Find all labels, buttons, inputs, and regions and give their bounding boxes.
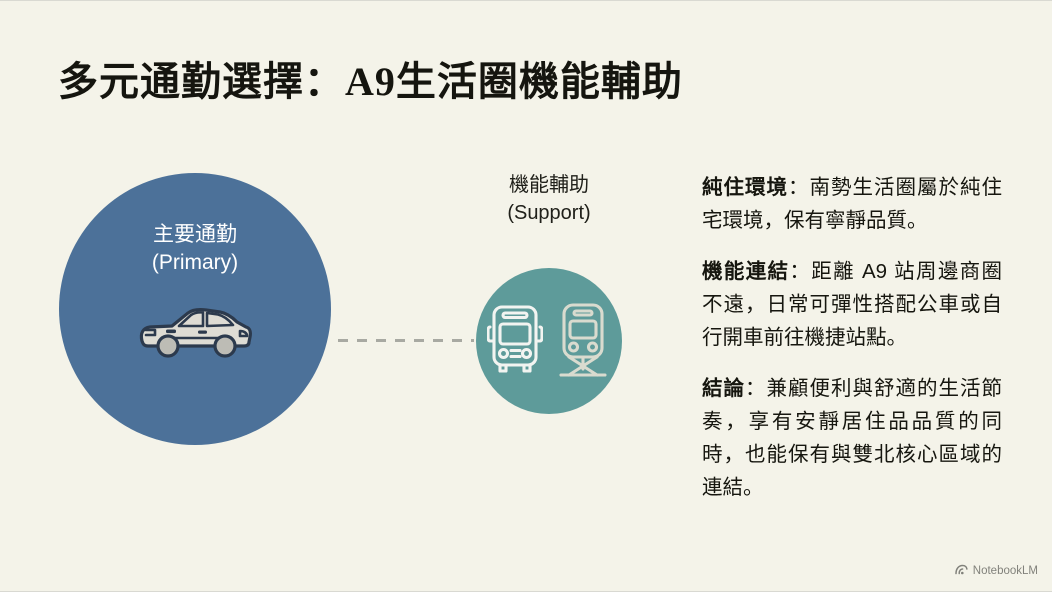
notebooklm-logo-icon [955, 563, 968, 579]
note-separator: ： [745, 377, 767, 400]
notebooklm-watermark: NotebookLM [955, 563, 1038, 579]
support-label-en: (Support) [458, 199, 640, 227]
note-label: 純住環境 [702, 176, 788, 199]
note-separator: ： [788, 176, 810, 199]
note-label: 機能連結 [702, 260, 789, 283]
support-label-zh: 機能輔助 [458, 171, 640, 199]
note-item: 結論：兼顧便利與舒適的生活節奏，享有安靜居住品品質的同時，也能保有與雙北核心區域… [702, 372, 1002, 504]
slide-canvas: 多元通勤選擇：A9生活圈機能輔助 主要通勤 (Primary) [0, 0, 1052, 592]
page-title: 多元通勤選擇：A9生活圈機能輔助 [58, 49, 683, 107]
note-item: 機能連結：距離 A9 站周邊商圈不遠，日常可彈性搭配公車或自行開車前往機捷站點。 [702, 255, 1002, 354]
dashed-connector [338, 339, 474, 342]
notes-column: 純住環境：南勢生活圈屬於純住宅環境，保有寧靜品質。 機能連結：距離 A9 站周邊… [702, 171, 1002, 504]
transit-icon-group [487, 301, 611, 383]
bus-icon [487, 303, 543, 382]
car-icon [136, 301, 254, 361]
support-function-label: 機能輔助 (Support) [458, 171, 640, 227]
watermark-label: NotebookLM [973, 565, 1038, 577]
primary-commute-label: 主要通勤 (Primary) [59, 221, 331, 277]
primary-label-zh: 主要通勤 [59, 221, 331, 249]
note-label: 結論 [702, 377, 745, 400]
note-separator: ： [789, 260, 811, 283]
train-icon [555, 301, 611, 384]
commute-diagram: 主要通勤 (Primary) [0, 151, 680, 551]
note-item: 純住環境：南勢生活圈屬於純住宅環境，保有寧靜品質。 [702, 171, 1002, 237]
primary-label-en: (Primary) [59, 249, 331, 277]
